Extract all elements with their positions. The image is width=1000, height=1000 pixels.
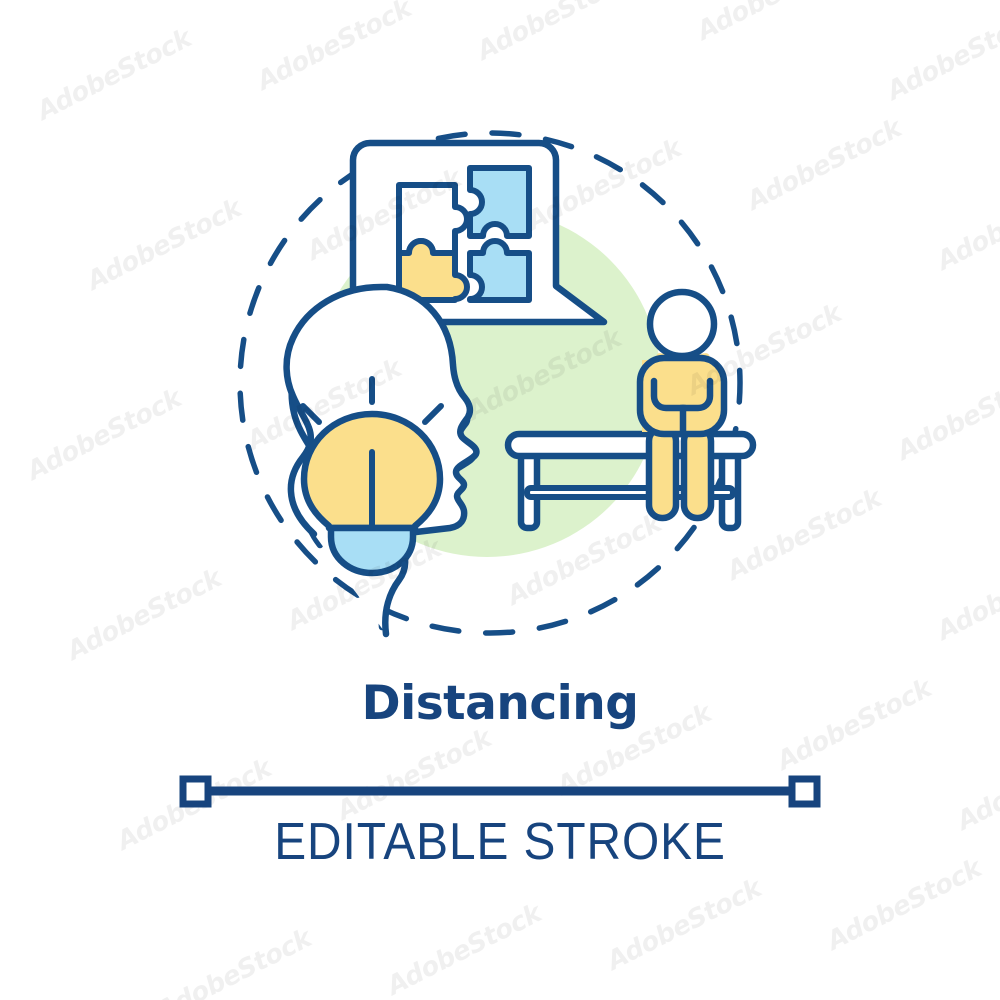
seated-person-figure bbox=[640, 292, 724, 518]
person-leg-near bbox=[684, 428, 711, 518]
bench-seat bbox=[508, 434, 753, 456]
person-head bbox=[650, 292, 714, 356]
head-profile-group bbox=[285, 287, 477, 634]
page-title: Distancing bbox=[0, 676, 1000, 731]
person-leg-far bbox=[649, 428, 676, 518]
screenshot-canvas: AdobeStock AdobeStock AdobeStock AdobeSt… bbox=[0, 0, 1000, 1000]
editable-stroke-label: EDITABLE STROKE bbox=[40, 812, 960, 872]
stroke-handle-right[interactable] bbox=[792, 779, 817, 804]
stroke-handle-left[interactable] bbox=[183, 779, 208, 804]
lightbulb-base bbox=[331, 528, 413, 573]
puzzle-piece-top-left bbox=[399, 185, 467, 253]
